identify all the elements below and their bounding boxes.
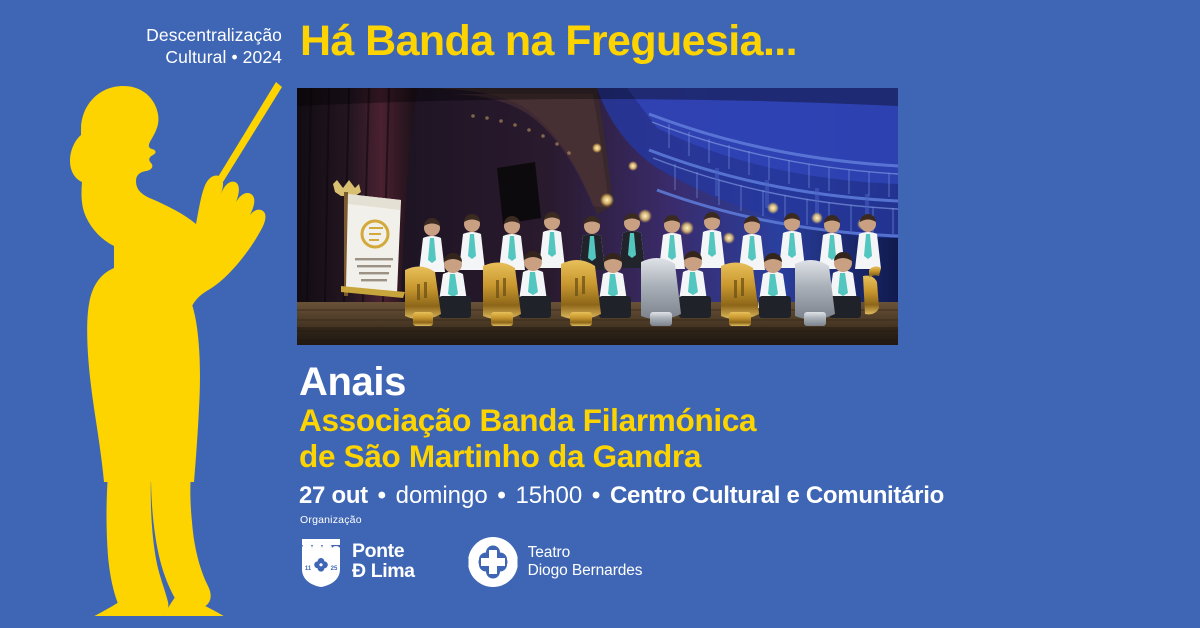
- event-time: 15h00: [515, 482, 582, 509]
- logo-teatro-diogo-bernardes[interactable]: Teatro Diogo Bernardes: [467, 536, 643, 588]
- event-name: Anais: [299, 361, 944, 403]
- event-venue: Centro Cultural e Comunitário: [610, 482, 944, 509]
- meta-separator-2: •: [494, 482, 508, 509]
- band-photo: [297, 88, 898, 345]
- meta-separator-1: •: [375, 482, 389, 509]
- teatro-word-line-2: Diogo Bernardes: [528, 562, 643, 580]
- organisation-label: Organização: [300, 514, 362, 526]
- event-details: Anais Associação Banda Filarmónica de Sã…: [299, 361, 944, 509]
- campaign-kicker: Descentralização Cultural • 2024: [110, 24, 282, 68]
- conductor-silhouette: [18, 78, 288, 616]
- poster-canvas: Descentralização Cultural • 2024 Há Band…: [0, 0, 1200, 628]
- kicker-line-2: Cultural • 2024: [110, 46, 282, 68]
- teatro-cross-circle-icon: [467, 536, 519, 588]
- ensemble-name-line-1: Associação Banda Filarmónica: [299, 403, 944, 438]
- crest-number-right: 25: [331, 566, 338, 572]
- teatro-word-line-1: Teatro: [528, 544, 643, 562]
- meta-separator-3: •: [589, 482, 603, 509]
- poster-title: Há Banda na Freguesia...: [300, 19, 797, 64]
- event-date: 27 out: [299, 482, 368, 509]
- crest-number-left: 11: [305, 566, 312, 572]
- ensemble-name-line-2: de São Martinho da Gandra: [299, 439, 944, 474]
- ponte-de-lima-word-line-2: Ð Lima: [352, 562, 415, 582]
- logo-ponte-de-lima[interactable]: 11 25 Ponte Ð Lima: [299, 536, 415, 588]
- teatro-wordmark: Teatro Diogo Bernardes: [528, 544, 643, 581]
- event-weekday: domingo: [396, 482, 488, 509]
- ponte-de-lima-wordmark: Ponte Ð Lima: [352, 542, 415, 582]
- event-meta: 27 out • domingo • 15h00 • Centro Cultur…: [299, 483, 944, 509]
- ponte-de-lima-crest-icon: 11 25: [299, 536, 343, 588]
- kicker-line-1: Descentralização: [110, 24, 282, 46]
- organisation-logos: 11 25 Ponte Ð Lima Teatro Diogo Bernarde…: [299, 536, 642, 588]
